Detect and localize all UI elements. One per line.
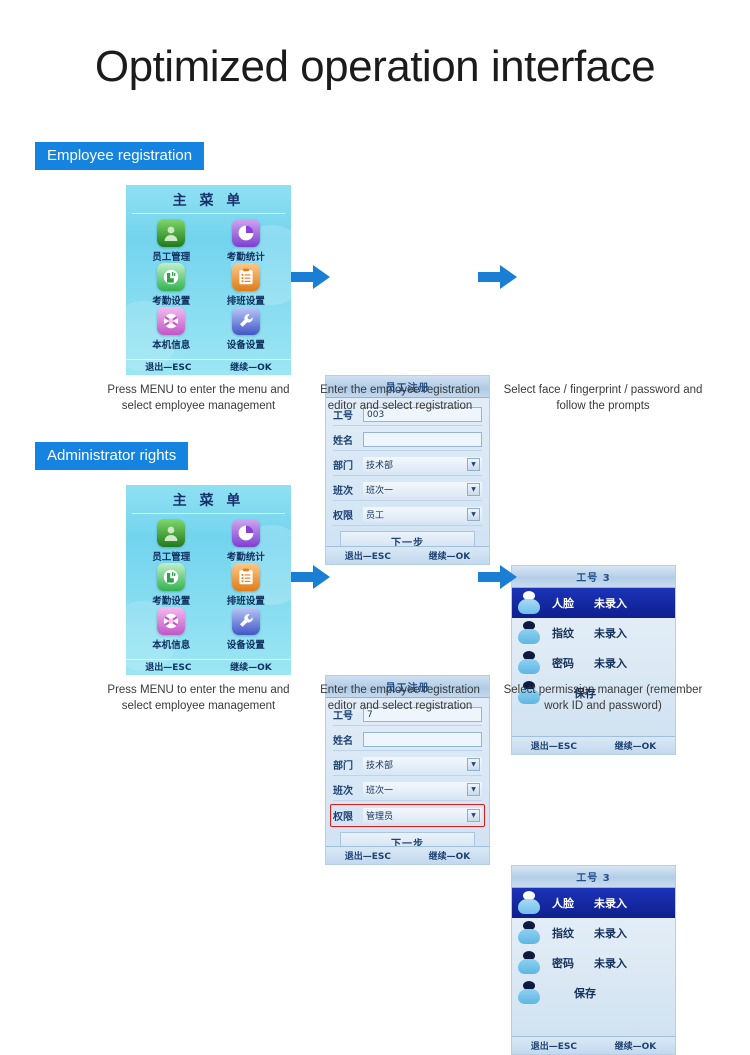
menu-item-label: 设备设置 [227,337,265,351]
right-arrow-icon [291,263,331,291]
user-management-icon [157,219,185,247]
footer-exit-label: 退出—ESC [531,1039,577,1052]
wrench-icon [232,307,260,335]
menu-item-device-info[interactable]: 本机信息 [134,307,209,351]
menu-title: 主 菜 单 [126,185,291,210]
menu-item-label: 考勤设置 [152,593,190,607]
field-label: 权限 [333,808,363,823]
footer-exit-label: 退出—ESC [531,739,577,752]
menu-item-label: 本机信息 [152,337,190,351]
avatar-icon [516,980,542,1006]
footer-continue-label: 继续—OK [429,849,471,862]
checklist-icon [232,263,260,291]
chevron-down-icon[interactable]: ▼ [467,809,480,822]
field-label: 部门 [333,457,363,472]
menu-item-attendance-settings[interactable]: 考勤设置 [134,263,209,307]
menu-item-label: 本机信息 [152,637,190,651]
caption-step-2: Enter the employee registration editor a… [305,683,495,714]
field-label: 姓名 [333,432,363,447]
enroll-footer: 退出—ESC 继续—OK [512,1036,675,1054]
right-arrow-icon [291,563,331,591]
flow-row-employee-registration: 主 菜 单 员工管理 [0,185,750,425]
enroll-item-label: 密码 [552,955,586,971]
right-arrow-icon [478,563,518,591]
department-select[interactable]: 技术部 ▼ [363,457,482,472]
form-field-list: 工号 7 姓名 部门 技术部 ▼ 班次 班次一 [326,698,489,827]
menu-item-label: 排班设置 [227,293,265,307]
menu-item-attendance-settings[interactable]: 考勤设置 [134,563,209,607]
enroll-item-label: 指纹 [552,925,586,941]
menu-item-label: 考勤设置 [152,293,190,307]
menu-icon-grid: 员工管理 考勤统计 [126,214,291,350]
field-label: 班次 [333,782,363,797]
field-row-permission-highlighted[interactable]: 权限 管理员 ▼ [330,804,485,827]
right-arrow-icon [478,263,518,291]
menu-item-shift-settings[interactable]: 排班设置 [209,263,284,307]
chevron-down-icon[interactable]: ▼ [467,458,480,471]
menu-item-attendance-statistics[interactable]: 考勤统计 [209,519,284,563]
user-management-icon [157,519,185,547]
department-value: 技术部 [366,758,393,771]
enroll-row-password[interactable]: 密码 未录入 [512,948,675,978]
caption-step-1: Press MENU to enter the menu and select … [96,683,301,714]
field-label: 部门 [333,757,363,772]
menu-title: 主 菜 单 [126,485,291,510]
department-select[interactable]: 技术部 ▼ [363,757,482,772]
enroll-item-status: 未录入 [594,925,627,941]
footer-exit-label: 退出—ESC [345,849,391,862]
menu-item-device-settings[interactable]: 设备设置 [209,307,284,351]
chevron-down-icon[interactable]: ▼ [467,758,480,771]
footer-continue-label: 继续—OK [615,739,657,752]
menu-footer: 退出—ESC 继续—OK [126,659,291,675]
caption-step-2: Enter the employee registration editor a… [305,383,495,414]
device-screen-main-menu[interactable]: 主 菜 单 员工管理 [126,185,291,375]
shift-select[interactable]: 班次一 ▼ [363,782,482,797]
name-input[interactable] [363,432,482,447]
device-screen-enrollment-list[interactable]: 工号 3 人脸 未录入 指纹 未录入 密码 未录入 保存 退出— [511,865,676,1055]
footer-continue-label: 继续—OK [230,660,272,673]
menu-item-attendance-statistics[interactable]: 考勤统计 [209,219,284,263]
footer-continue-label: 继续—OK [615,1039,657,1052]
poster-root: Optimized operation interface Employee r… [0,0,750,750]
footer-exit-label: 退出—ESC [145,660,191,673]
permission-value: 管理员 [366,809,393,822]
field-row-department[interactable]: 部门 技术部 ▼ [333,754,482,776]
section-badge-employee-registration: Employee registration [35,142,204,170]
pie-chart-icon [232,219,260,247]
caption-step-3: Select permission manager (remember work… [498,683,708,714]
device-info-icon [157,607,185,635]
field-row-shift[interactable]: 班次 班次一 ▼ [333,779,482,801]
hand-clock-icon [157,563,185,591]
page-title: Optimized operation interface [0,42,750,92]
caption-step-1: Press MENU to enter the menu and select … [96,383,301,414]
menu-item-label: 考勤统计 [227,549,265,563]
name-input[interactable] [363,732,482,747]
menu-item-label: 员工管理 [152,249,190,263]
menu-item-employee-management[interactable]: 员工管理 [134,219,209,263]
menu-item-device-info[interactable]: 本机信息 [134,607,209,651]
department-value: 技术部 [366,458,393,471]
footer-exit-label: 退出—ESC [145,360,191,373]
enroll-item-status: 未录入 [594,895,627,911]
enroll-row-face[interactable]: 人脸 未录入 [512,888,675,918]
flow-row-administrator-rights: 主 菜 单 员工管理 [0,485,750,725]
avatar-icon [516,950,542,976]
menu-item-device-settings[interactable]: 设备设置 [209,607,284,651]
field-row-department[interactable]: 部门 技术部 ▼ [333,454,482,476]
menu-item-label: 员工管理 [152,549,190,563]
enroll-save-label: 保存 [574,985,596,1001]
enroll-footer: 退出—ESC 继续—OK [512,736,675,754]
avatar-icon [516,890,542,916]
hand-clock-icon [157,263,185,291]
section-badge-administrator-rights: Administrator rights [35,442,188,470]
permission-select[interactable]: 管理员 ▼ [363,808,482,823]
pie-chart-icon [232,519,260,547]
enroll-item-status: 未录入 [594,955,627,971]
form-footer: 退出—ESC 继续—OK [326,846,489,864]
menu-footer: 退出—ESC 继续—OK [126,359,291,375]
avatar-icon [516,920,542,946]
enroll-item-label: 人脸 [552,895,586,911]
chevron-down-icon[interactable]: ▼ [467,783,480,796]
shift-value: 班次一 [366,783,393,796]
menu-icon-grid: 员工管理 考勤统计 [126,514,291,650]
menu-item-label: 排班设置 [227,593,265,607]
device-info-icon [157,307,185,335]
field-label: 姓名 [333,732,363,747]
device-screen-main-menu[interactable]: 主 菜 单 员工管理 [126,485,291,675]
enroll-row-fingerprint[interactable]: 指纹 未录入 [512,918,675,948]
menu-item-label: 考勤统计 [227,249,265,263]
menu-item-employee-management[interactable]: 员工管理 [134,519,209,563]
caption-step-3: Select face / fingerprint / password and… [498,383,708,414]
enroll-row-save[interactable]: 保存 [512,978,675,1008]
field-row-name[interactable]: 姓名 [333,429,482,451]
footer-continue-label: 继续—OK [230,360,272,373]
menu-item-shift-settings[interactable]: 排班设置 [209,563,284,607]
checklist-icon [232,563,260,591]
menu-item-label: 设备设置 [227,637,265,651]
field-row-name[interactable]: 姓名 [333,729,482,751]
wrench-icon [232,607,260,635]
enroll-title: 工号 3 [512,866,675,888]
